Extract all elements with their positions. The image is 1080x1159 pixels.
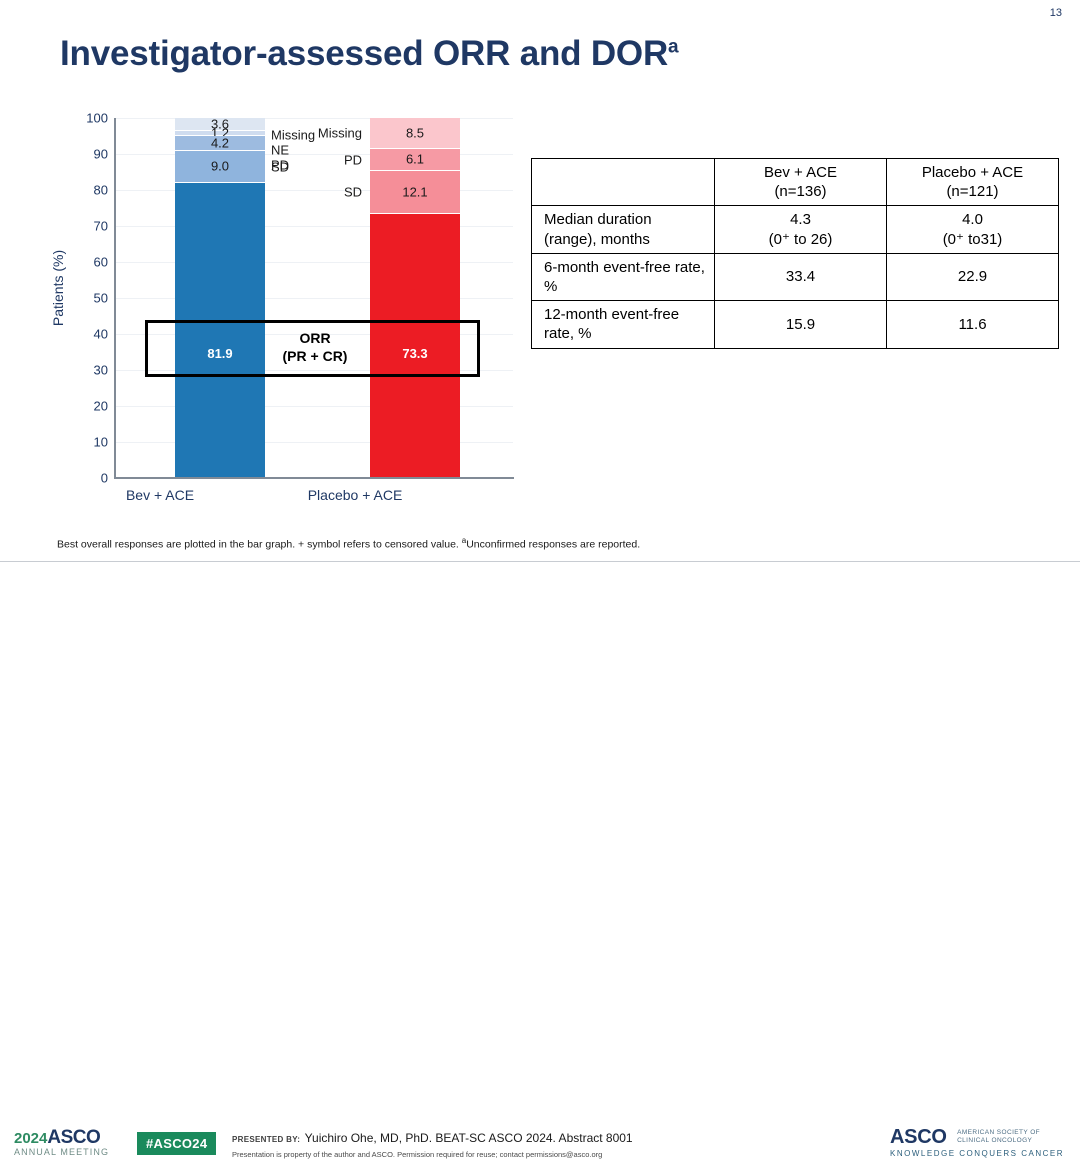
bar-segment-sd: 9.0 — [175, 151, 265, 183]
cell-line1: 4.0 — [895, 210, 1050, 229]
y-axis-line — [114, 118, 116, 478]
cell-line1: 11.6 — [895, 315, 1050, 334]
y-axis-tick: 50 — [62, 291, 108, 306]
y-axis-tick: 60 — [62, 255, 108, 270]
col-header-line1: Bev + ACE — [723, 163, 878, 182]
slide: 13 Investigator-assessed ORR and DORa Pa… — [0, 0, 1080, 608]
y-axis-tick: 20 — [62, 399, 108, 414]
table: Bev + ACE (n=136) Placebo + ACE (n=121) … — [531, 158, 1059, 349]
cell-line1: 22.9 — [895, 267, 1050, 286]
y-axis-tick: 30 — [62, 363, 108, 378]
table-row: Median duration(range), months4.3(0⁺ to … — [532, 206, 1059, 253]
bar-segment-value: 8.5 — [370, 126, 460, 139]
orr-stacked-bar-chart: Patients (%) 0102030405060708090100 Miss… — [20, 105, 520, 505]
bar-segment-value: 12.1 — [370, 185, 460, 198]
bar-placebo: 8.56.112.173.3 — [370, 118, 460, 478]
cell-line1: 33.4 — [723, 267, 878, 286]
table-body: Median duration(range), months4.3(0⁺ to … — [532, 206, 1059, 348]
table-row: 12-month event-free rate, %15.911.6 — [532, 301, 1059, 348]
table-col-header-placebo: Placebo + ACE (n=121) — [887, 159, 1059, 206]
bar-segment-pd: 4.2 — [175, 136, 265, 151]
presenter-name: Yuichiro Ohe, MD, PhD. BEAT-SC ASCO 2024… — [305, 1131, 633, 1145]
y-axis-tick: 10 — [62, 435, 108, 450]
table-col-header-bev: Bev + ACE (n=136) — [715, 159, 887, 206]
footnote-text-after: Unconfirmed responses are reported. — [466, 539, 640, 551]
col-header-line1: Placebo + ACE — [895, 163, 1050, 182]
footnote: Best overall responses are plotted in th… — [57, 536, 640, 551]
logo-asco-text: ASCO — [47, 1127, 100, 1148]
bar-segment-pd: 6.1 — [370, 149, 460, 171]
bar-segment-label-pd: PD — [304, 153, 362, 166]
table-cell: 33.4 — [715, 253, 887, 300]
bar-segment-label-ne: NE — [271, 144, 289, 157]
cell-line1: 15.9 — [723, 315, 878, 334]
page-title-text: Investigator-assessed ORR and DOR — [60, 34, 668, 73]
logo-year: 2024 — [14, 1130, 47, 1147]
col-header-line2: (n=136) — [723, 182, 878, 201]
right-logo-subtitle-line2: CLINICAL ONCOLOGY — [957, 1137, 1040, 1145]
x-axis-line — [114, 477, 514, 479]
y-axis-tick: 80 — [62, 183, 108, 198]
table-row-header: Median duration(range), months — [532, 206, 715, 253]
asco-annual-meeting-logo: 2024ASCO ANNUAL MEETING — [14, 1130, 124, 1157]
orr-annotation: ORR(PR + CR) — [260, 330, 370, 365]
page-title: Investigator-assessed ORR and DORa — [60, 34, 678, 74]
right-logo-subtitle: AMERICAN SOCIETY OF CLINICAL ONCOLOGY — [957, 1129, 1040, 1145]
bar-bev: 3.61.24.29.081.9 — [175, 118, 265, 478]
y-axis-ticks: 0102030405060708090100 — [60, 118, 108, 478]
right-logo-asco-text: ASCO — [890, 1127, 947, 1147]
presented-by-block: PRESENTED BY: Yuichiro Ohe, MD, PhD. BEA… — [232, 1129, 633, 1159]
row-header-line1: 6-month event-free rate, % — [544, 258, 706, 296]
bar-segment-sd: 12.1 — [370, 171, 460, 215]
dor-summary-table: Bev + ACE (n=136) Placebo + ACE (n=121) … — [531, 158, 1059, 349]
cell-line2: (0⁺ to 26) — [723, 230, 878, 249]
table-header-row: Bev + ACE (n=136) Placebo + ACE (n=121) — [532, 159, 1059, 206]
presented-by-label: PRESENTED BY: — [232, 1135, 300, 1144]
y-axis-tick: 90 — [62, 147, 108, 162]
table-row: 6-month event-free rate, %33.422.9 — [532, 253, 1059, 300]
right-logo-tagline: KNOWLEDGE CONQUERS CANCER — [890, 1149, 1064, 1158]
table-cell: 4.3(0⁺ to 26) — [715, 206, 887, 253]
page-title-superscript: a — [668, 36, 678, 57]
table-cell: 4.0(0⁺ to31) — [887, 206, 1059, 253]
copyright-text: Presentation is property of the author a… — [232, 1150, 633, 1159]
table-row-header: 12-month event-free rate, % — [532, 301, 715, 348]
row-header-line2: (range), months — [544, 230, 706, 249]
logo-line1: 2024ASCO — [14, 1130, 124, 1146]
orr-annotation-line1: ORR — [260, 330, 370, 348]
bar-segment-label-sd: SD — [271, 160, 289, 173]
col-header-line2: (n=121) — [895, 182, 1050, 201]
plot-area: MissingNEPDSD3.61.24.29.081.9MissingPDSD… — [115, 118, 513, 478]
hashtag-badge: #ASCO24 — [137, 1132, 216, 1155]
row-header-line1: Median duration — [544, 210, 706, 229]
table-row-header: 6-month event-free rate, % — [532, 253, 715, 300]
row-header-line1: 12-month event-free rate, % — [544, 305, 706, 343]
bar-segment-missing: 8.5 — [370, 118, 460, 149]
table-cell: 11.6 — [887, 301, 1059, 348]
bar-segment-value: 9.0 — [175, 160, 265, 173]
bar-segment-value: 4.2 — [175, 136, 265, 149]
presented-by-line: PRESENTED BY: Yuichiro Ohe, MD, PhD. BEA… — [232, 1129, 633, 1147]
table-corner-cell — [532, 159, 715, 206]
table-cell: 15.9 — [715, 301, 887, 348]
footer: 2024ASCO ANNUAL MEETING #ASCO24 PRESENTE… — [0, 562, 1080, 608]
footnote-text-before: Best overall responses are plotted in th… — [57, 539, 462, 551]
table-cell: 22.9 — [887, 253, 1059, 300]
logo-subtitle: ANNUAL MEETING — [14, 1147, 124, 1157]
bar-segment-label-sd: SD — [304, 186, 362, 199]
bar-segment-label-missing: Missing — [304, 127, 362, 140]
x-axis-tick-placebo: Placebo + ACE — [265, 487, 445, 503]
cell-line1: 4.3 — [723, 210, 878, 229]
cell-line2: (0⁺ to31) — [895, 230, 1050, 249]
y-axis-tick: 100 — [62, 111, 108, 126]
y-axis-tick: 40 — [62, 327, 108, 342]
orr-annotation-line2: (PR + CR) — [260, 348, 370, 366]
right-logo-subtitle-line1: AMERICAN SOCIETY OF — [957, 1129, 1040, 1137]
y-axis-tick: 0 — [62, 471, 108, 486]
right-logo-main-row: ASCO AMERICAN SOCIETY OF CLINICAL ONCOLO… — [890, 1127, 1064, 1147]
asco-society-logo: ASCO AMERICAN SOCIETY OF CLINICAL ONCOLO… — [890, 1127, 1064, 1158]
slide-number: 13 — [1050, 7, 1062, 19]
bar-segment-value: 6.1 — [370, 153, 460, 166]
x-axis-tick-bev: Bev + ACE — [70, 487, 250, 503]
y-axis-tick: 70 — [62, 219, 108, 234]
